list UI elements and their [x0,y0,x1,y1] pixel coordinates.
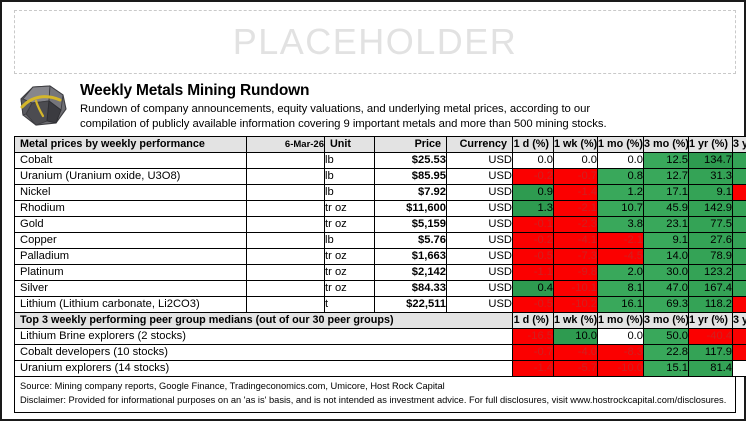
table-row: Silvertr oz$84.33USD0.4-10.18.147.0167.4… [15,280,746,296]
page-subtitle-line2: compilation of publicly available inform… [80,117,736,132]
metal-pct-cell: 23.1 [644,216,689,232]
footer-notes: Source: Mining company reports, Google F… [14,377,736,413]
metal-unit: lb [325,232,375,248]
metal-name: Cobalt [15,152,247,168]
metal-pct-cell: 134.7 [689,152,733,168]
peer-pct-cell: 15.1 [644,360,689,376]
metal-pct-cell: -29.1 [733,184,746,200]
metal-pct-cell: 303.3 [733,280,746,296]
peer-col-header-1mo: 1 mo (%) [598,312,644,328]
metal-spacer [247,216,325,232]
metal-pct-cell: -0.7 [554,168,598,184]
metal-unit: t [325,296,375,312]
peer-pct-cell: -9.3 [733,344,746,360]
metal-price: $2,142 [375,264,447,280]
metal-pct-cell: 3.8 [598,216,644,232]
metal-pct-cell: 17.1 [644,184,689,200]
peer-pct-cell: -4.0 [554,344,598,360]
peer-pct-cell: -5.7 [554,360,598,376]
peer-table-header-row: Top 3 weekly performing peer group media… [15,312,746,328]
metal-name: Copper [15,232,247,248]
peer-pct-cell: 0.0 [733,360,746,376]
metal-pct-cell: 27.6 [689,232,733,248]
metal-pct-cell: -10.2 [554,296,598,312]
col-header-currency: Currency [447,136,513,152]
metal-pct-cell: -2.1 [554,200,598,216]
metal-pct-cell: 40.5 [733,232,746,248]
col-header-1wk: 1 wk (%) [554,136,598,152]
peer-pct-cell: 117.9 [689,344,733,360]
metal-price: $11,600 [375,200,447,216]
peer-pct-cell: 81.4 [689,360,733,376]
metal-pct-cell: 12.5 [644,152,689,168]
metal-pct-cell: -7.3 [554,248,598,264]
table-row: Uranium explorers (14 stocks)-1.4-5.7-10… [15,360,746,376]
metal-currency: USD [447,184,513,200]
metal-pct-cell: -0.5 [513,296,554,312]
peer-pct-cell: -0.7 [513,344,554,360]
metal-pct-cell: -2.3 [554,216,598,232]
metal-table-title: Metal prices by weekly performance [15,136,247,152]
col-header-1mo: 1 mo (%) [598,136,644,152]
metal-pct-cell: 16.0 [733,200,746,216]
metal-pct-cell: -2.1 [598,232,644,248]
metal-unit: lb [325,152,375,168]
page-title: Weekly Metals Mining Rundown [80,82,736,100]
page-subtitle-line1: Rundown of company announcements, equity… [80,102,736,117]
metal-currency: USD [447,152,513,168]
table-row: Cobaltlb$25.53USD0.00.00.012.5134.766.8 [15,152,746,168]
metal-table-header-row: Metal prices by weekly performance 6-Mar… [15,136,746,152]
metal-currency: USD [447,248,513,264]
metal-pct-cell: -0.5 [513,248,554,264]
peer-pct-cell: -16.5 [513,328,554,344]
metal-price: $85.95 [375,168,447,184]
metal-pct-cell: -4.1 [554,232,598,248]
metal-price: $7.92 [375,184,447,200]
peer-pct-cell: 10.0 [554,328,598,344]
peer-col-header-3yr: 3 yr (%) [733,312,746,328]
metal-spacer [247,264,325,280]
metal-pct-cell: 69.3 [644,296,689,312]
table-row: Lithium (Lithium carbonate, Li2CO3)t$22,… [15,296,746,312]
peer-col-header-1wk: 1 wk (%) [554,312,598,328]
metal-currency: USD [447,264,513,280]
peer-col-header-3mo: 3 mo (%) [644,312,689,328]
peer-group-name: Uranium explorers (14 stocks) [15,360,513,376]
table-row: Cobalt developers (10 stocks)-0.7-4.0-8.… [15,344,746,360]
metal-pct-cell: 182.4 [733,216,746,232]
metal-spacer [247,168,325,184]
table-row: Palladiumtr oz$1,663USD-0.5-7.3-4.514.07… [15,248,746,264]
metal-name: Platinum [15,264,247,280]
metal-pct-cell: 30.0 [644,264,689,280]
peer-pct-cell: -67.5 [733,328,746,344]
metal-pct-cell: 0.8 [598,168,644,184]
table-row: Goldtr oz$5,159USD-0.1-2.33.823.177.5182… [15,216,746,232]
metal-currency: USD [447,168,513,184]
metal-pct-cell: 66.8 [733,152,746,168]
disclaimer-note: Disclaimer: Provided for informational p… [20,394,730,408]
metal-price: $5,159 [375,216,447,232]
metal-spacer [247,248,325,264]
peer-group-name: Cobalt developers (10 stocks) [15,344,513,360]
metal-currency: USD [447,216,513,232]
peer-pct-cell: -1.4 [513,360,554,376]
table-row: Uranium (Uranium oxide, U3O8)lb$85.95USD… [15,168,746,184]
metal-pct-cell: 31.3 [689,168,733,184]
metal-pct-cell: 10.7 [598,200,644,216]
table-row: Nickellb$7.92USD0.9-1.41.217.19.1-29.1 [15,184,746,200]
metal-pct-cell: -9.8 [554,264,598,280]
placeholder-label: PLACEHOLDER [233,21,518,63]
metal-name: Lithium (Lithium carbonate, Li2CO3) [15,296,247,312]
metal-unit: tr oz [325,200,375,216]
table-row: Lithium Brine explorers (2 stocks)-16.51… [15,328,746,344]
metal-pct-cell: 17.2 [733,248,746,264]
report-page: PLACEHOLDER Weekly Metals Mining Rundown [0,0,746,421]
metal-pct-cell: 12.7 [644,168,689,184]
col-header-3yr: 3 yr (%) [733,136,746,152]
metal-name: Gold [15,216,247,232]
metal-pct-cell: -0.2 [513,232,554,248]
metal-pct-cell: -54.7 [733,296,746,312]
metal-pct-cell: 0.0 [554,152,598,168]
metal-currency: USD [447,232,513,248]
table-row: Rhodiumtr oz$11,600USD1.3-2.110.745.9142… [15,200,746,216]
metal-pct-cell: -4.5 [598,248,644,264]
metal-price: $84.33 [375,280,447,296]
metal-pct-cell: 45.9 [644,200,689,216]
metal-pct-cell: 77.5 [689,216,733,232]
col-header-1yr: 1 yr (%) [689,136,733,152]
metal-pct-cell: 47.0 [644,280,689,296]
peer-col-header-1yr: 1 yr (%) [689,312,733,328]
metal-pct-cell: 9.1 [644,232,689,248]
masthead: Weekly Metals Mining Rundown Rundown of … [14,79,736,136]
placeholder-banner: PLACEHOLDER [14,10,736,74]
metal-pct-cell: 0.0 [513,152,554,168]
metal-unit: tr oz [325,216,375,232]
metal-price: $22,511 [375,296,447,312]
metal-pct-cell: 124.0 [733,264,746,280]
metal-prices-table: Metal prices by weekly performance 6-Mar… [14,136,746,313]
metal-pct-cell: 16.1 [598,296,644,312]
metal-unit: lb [325,184,375,200]
metal-name: Rhodium [15,200,247,216]
metal-pct-cell: 123.2 [689,264,733,280]
metal-currency: USD [447,200,513,216]
metal-pct-cell: 14.0 [644,248,689,264]
peer-table-body: Lithium Brine explorers (2 stocks)-16.51… [15,328,746,376]
source-note: Source: Mining company reports, Google F… [20,380,730,394]
metal-spacer [247,280,325,296]
peer-groups-table: Top 3 weekly performing peer group media… [14,312,746,377]
metal-pct-cell: 0.0 [598,152,644,168]
peer-col-header-1d: 1 d (%) [513,312,554,328]
metal-unit: tr oz [325,280,375,296]
metal-spacer [247,232,325,248]
peer-pct-cell: -8.3 [598,344,644,360]
metal-unit: lb [325,168,375,184]
metal-spacer [247,200,325,216]
peer-pct-cell: 50.0 [644,328,689,344]
metal-pct-cell: 167.4 [689,280,733,296]
table-row: Platinumtr oz$2,142USD-1.1-9.82.030.0123… [15,264,746,280]
metal-name: Palladium [15,248,247,264]
peer-pct-cell: -10.0 [598,360,644,376]
col-header-unit: Unit [325,136,375,152]
metal-name: Silver [15,280,247,296]
peer-group-name: Lithium Brine explorers (2 stocks) [15,328,513,344]
metal-pct-cell: 0.9 [513,184,554,200]
metal-pct-cell: -0.1 [513,216,554,232]
metal-pct-cell: 68.7 [733,168,746,184]
metal-pct-cell: 0.4 [513,280,554,296]
metal-unit: tr oz [325,248,375,264]
col-header-3mo: 3 mo (%) [644,136,689,152]
col-header-1d: 1 d (%) [513,136,554,152]
rock-with-gold-vein-icon [16,83,72,131]
metal-currency: USD [447,280,513,296]
peer-table-title: Top 3 weekly performing peer group media… [15,312,513,328]
metal-pct-cell: -10.1 [554,280,598,296]
col-header-price: Price [375,136,447,152]
metal-table-date: 6-Mar-26 [247,136,325,152]
metal-table-body: Cobaltlb$25.53USD0.00.00.012.5134.766.8U… [15,152,746,312]
metal-pct-cell: -1.4 [554,184,598,200]
metal-price: $25.53 [375,152,447,168]
metal-pct-cell: 1.3 [513,200,554,216]
metal-spacer [247,296,325,312]
metal-currency: USD [447,296,513,312]
metal-pct-cell: 142.9 [689,200,733,216]
metal-spacer [247,152,325,168]
metal-pct-cell: -1.1 [513,264,554,280]
metal-pct-cell: 2.0 [598,264,644,280]
metal-pct-cell: 1.2 [598,184,644,200]
metal-pct-cell: 9.1 [689,184,733,200]
metal-pct-cell: 118.2 [689,296,733,312]
metal-pct-cell: 8.1 [598,280,644,296]
peer-pct-cell: -40.4 [689,328,733,344]
metal-name: Uranium (Uranium oxide, U3O8) [15,168,247,184]
table-row: Copperlb$5.76USD-0.2-4.1-2.19.127.640.5 [15,232,746,248]
metal-price: $1,663 [375,248,447,264]
metal-unit: tr oz [325,264,375,280]
peer-pct-cell: 0.0 [598,328,644,344]
metal-pct-cell: -0.2 [513,168,554,184]
metal-name: Nickel [15,184,247,200]
peer-pct-cell: 22.8 [644,344,689,360]
metal-pct-cell: 78.9 [689,248,733,264]
metal-price: $5.76 [375,232,447,248]
metal-spacer [247,184,325,200]
